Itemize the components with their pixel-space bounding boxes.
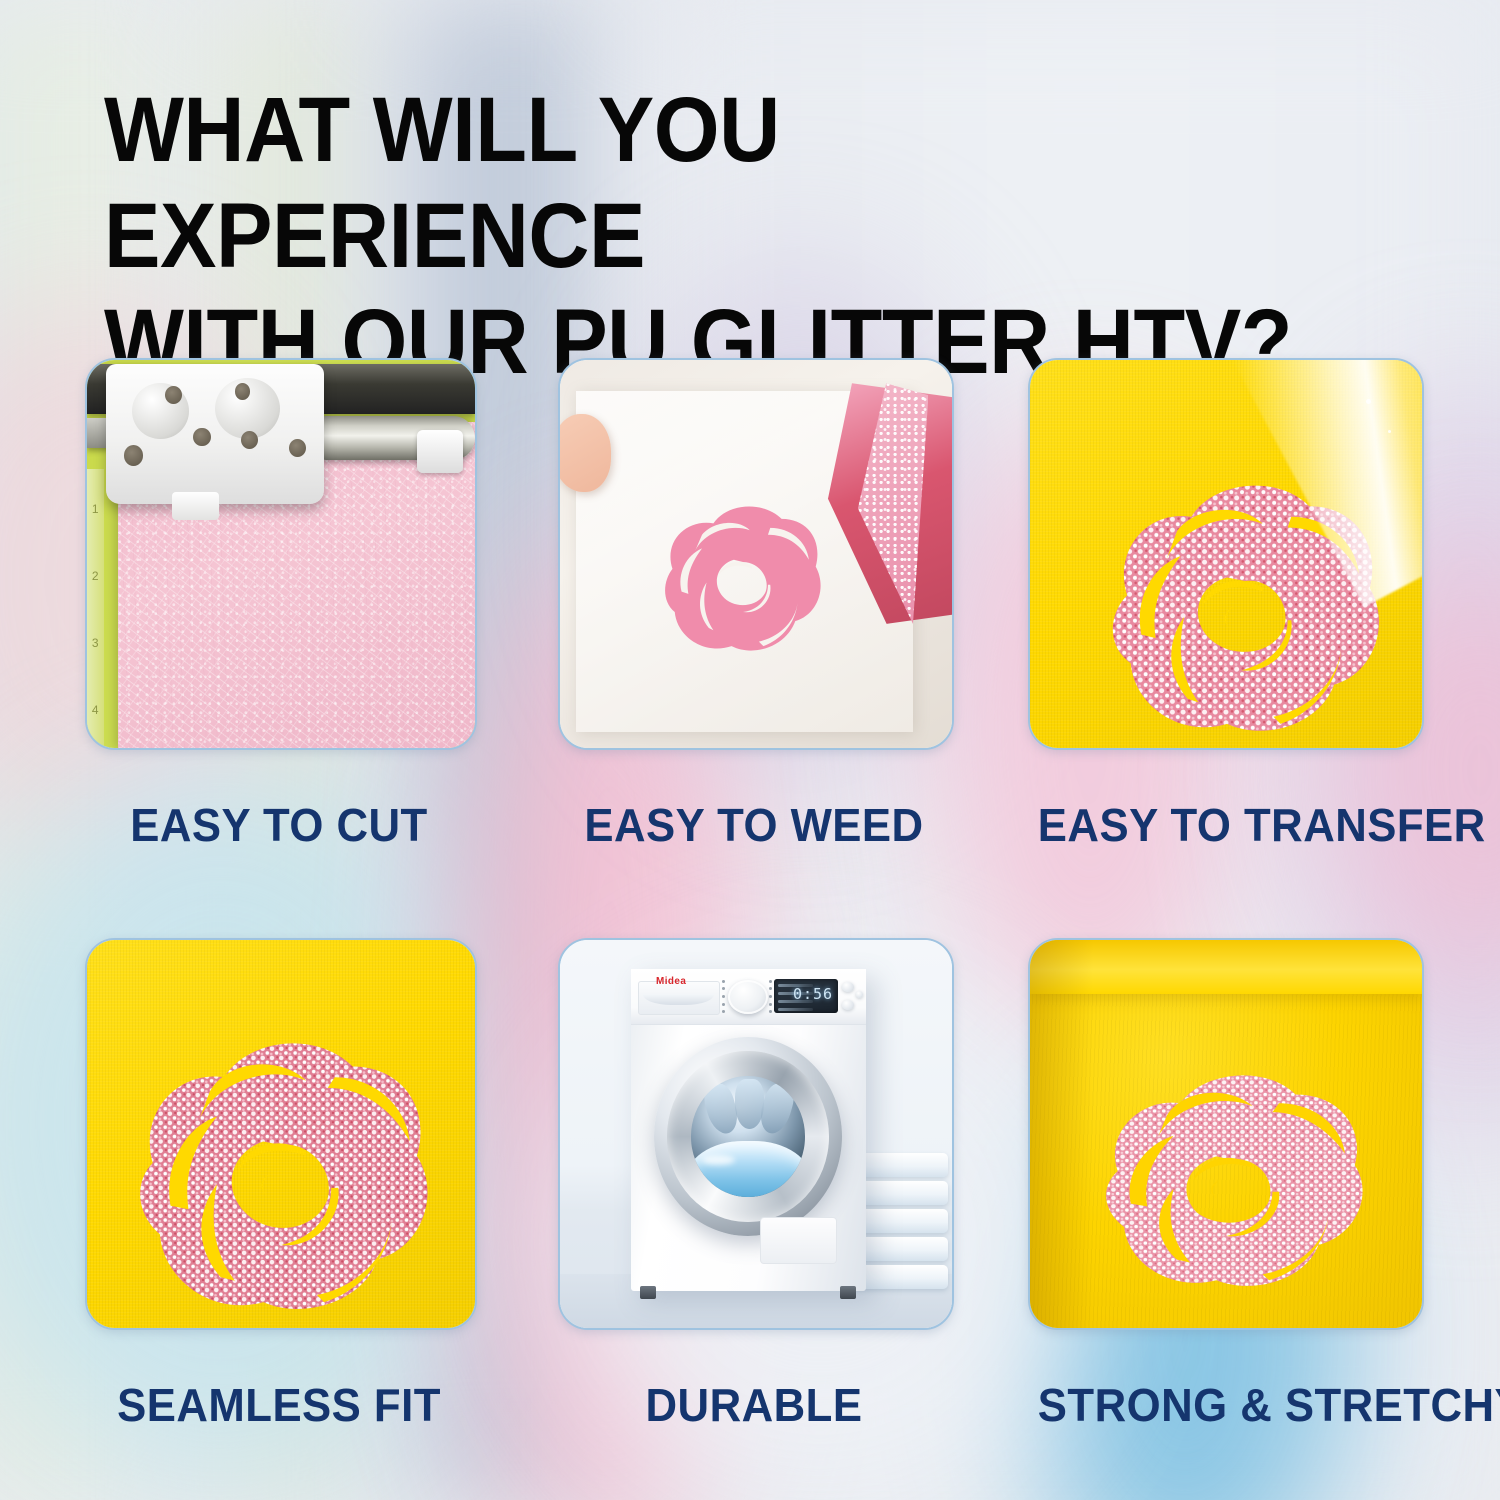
carriage-blade-holder [172, 492, 220, 520]
caption-easy-to-cut: EASY TO CUT [95, 798, 464, 852]
feature-cell-easy-to-transfer: EASY TO TRANSFER [1028, 358, 1420, 746]
caption-seamless-fit: SEAMLESS FIT [95, 1378, 464, 1432]
tile-image-strong-and-stretchy[interactable] [1028, 938, 1424, 1330]
feature-grid: 1 2 3 4 EASY TO CUT [0, 0, 1500, 1500]
caption-strong-and-stretchy: STRONG & STRETCHY [1038, 1378, 1410, 1432]
drum-fin-center [735, 1079, 764, 1129]
ruler-mark-4: 4 [92, 703, 99, 717]
caption-easy-to-weed: EASY TO WEED [568, 798, 940, 852]
washer-foot-left [640, 1286, 656, 1299]
door-ring [667, 1051, 829, 1223]
control-panel: Midea 0:56 [631, 969, 866, 1025]
tile-image-seamless-fit[interactable] [85, 938, 477, 1330]
dial-markings [722, 978, 743, 1014]
ruler-mark-3: 3 [92, 636, 99, 650]
carriage-screw-3 [193, 428, 210, 446]
mat-clip [417, 430, 464, 473]
feature-cell-easy-to-cut: 1 2 3 4 EASY TO CUT [85, 358, 473, 746]
tile-image-easy-to-weed[interactable] [558, 358, 954, 750]
washer-foot-right [840, 1286, 856, 1299]
carriage-screw-5 [241, 431, 258, 449]
drum-water [691, 1141, 804, 1196]
brand-logo: Midea [656, 976, 686, 987]
ruler-mark-2: 2 [92, 569, 99, 583]
sparkle-1 [1366, 399, 1371, 404]
feature-cell-durable: Midea 0:56 [558, 938, 950, 1326]
rose-design-seamless [95, 963, 467, 1320]
rose-design-stretched [1065, 1006, 1394, 1301]
tile-image-durable[interactable]: Midea 0:56 [558, 938, 954, 1330]
caption-durable: DURABLE [568, 1378, 940, 1432]
door-glass [691, 1076, 804, 1196]
folded-towels [854, 1153, 948, 1293]
option-button[interactable] [856, 991, 863, 998]
feature-cell-strong-and-stretchy: STRONG & STRETCHY [1028, 938, 1420, 1326]
lcd-display: 0:56 [774, 979, 838, 1013]
hand-finger [558, 414, 611, 492]
tile-image-easy-to-cut[interactable]: 1 2 3 4 [85, 358, 477, 750]
caption-easy-to-transfer: EASY TO TRANSFER [1038, 798, 1410, 852]
sparkle-2 [1388, 430, 1391, 433]
washer-door[interactable] [654, 1037, 842, 1237]
mat-ruler: 1 2 3 4 [87, 469, 104, 748]
cutter-carriage [106, 364, 323, 504]
feature-cell-easy-to-weed: EASY TO WEED [558, 358, 950, 746]
ruler-mark-1: 1 [92, 502, 99, 516]
feature-cell-seamless-fit: SEAMLESS FIT [85, 938, 473, 1326]
carriage-screw-1 [124, 445, 144, 466]
start-button[interactable] [842, 1000, 854, 1010]
tile-image-easy-to-transfer[interactable] [1028, 358, 1424, 750]
filter-hatch[interactable] [760, 1217, 837, 1264]
power-button[interactable] [842, 982, 854, 992]
lcd-time-value: 0:56 [793, 985, 833, 1003]
carriage-screw-4 [235, 383, 250, 400]
washing-machine: Midea 0:56 [631, 969, 866, 1291]
carriage-screw-6 [289, 439, 306, 457]
rose-design-weeded [627, 457, 854, 690]
